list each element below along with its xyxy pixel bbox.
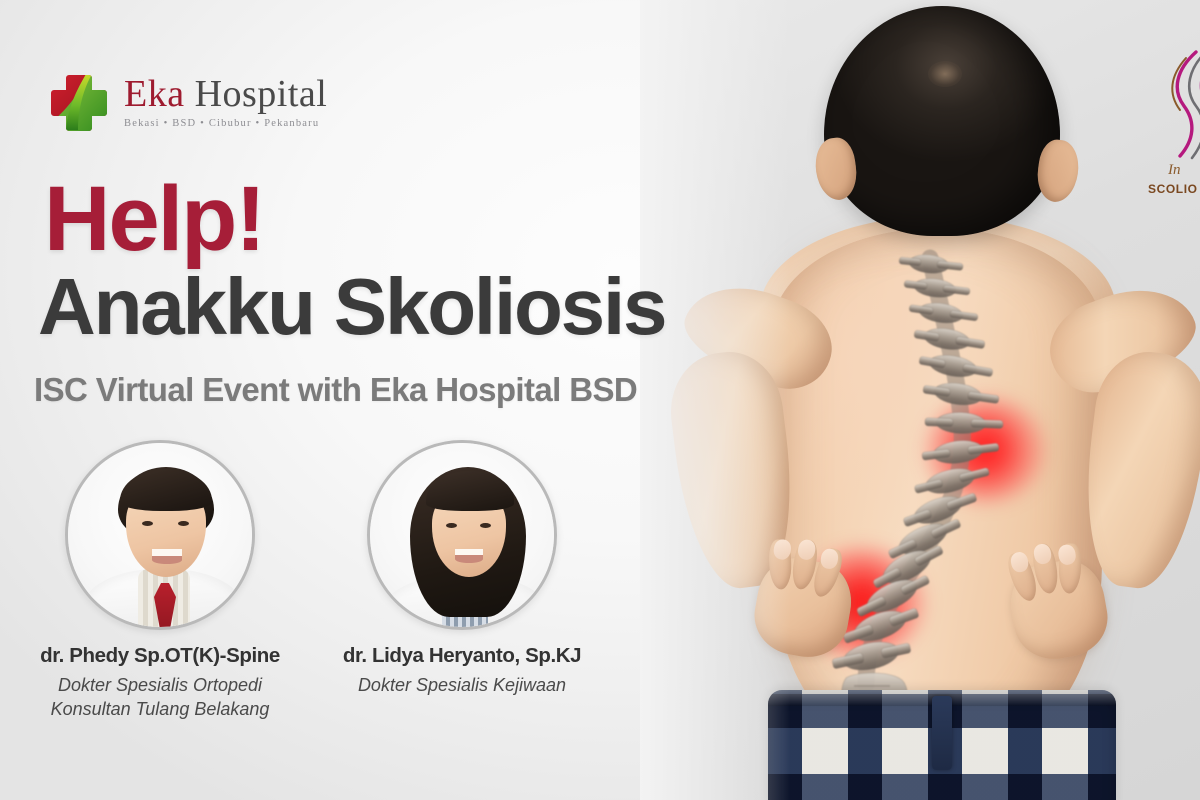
doctor-card-phedy: dr. Phedy Sp.OT(K)-Spine Dokter Spesiali… xyxy=(10,440,310,721)
headline-anakku-skoliosis: Anakku Skoliosis xyxy=(38,266,665,348)
doctor-role-line2: Konsultan Tulang Belakang xyxy=(10,697,310,721)
checkered-shorts-icon xyxy=(768,690,1116,800)
red-pain-glow-upper-icon xyxy=(926,398,1044,502)
isc-logo-text-line2: SCOLIO xyxy=(1148,182,1198,196)
shorts-fly xyxy=(932,696,952,770)
eka-hospital-logo: EkaHospital Bekasi • BSD • Cibubur • Pek… xyxy=(48,72,327,132)
eka-hospital-cross-logo-icon xyxy=(48,72,110,132)
doctor-name: dr. Lidya Heryanto, Sp.KJ xyxy=(312,644,612,668)
boy-back-torso-icon xyxy=(772,228,1102,748)
hero-photo xyxy=(640,0,1200,800)
poster-canvas: In SCOLIO xyxy=(0,0,1200,800)
doctor-role-line1: Dokter Spesialis Kejiwaan xyxy=(312,673,612,697)
eka-hospital-name-eka: Eka xyxy=(124,73,185,115)
doctor-portrait-female-icon xyxy=(367,440,557,630)
doctor-portrait-male-icon xyxy=(65,440,255,630)
subheadline-event: ISC Virtual Event with Eka Hospital BSD xyxy=(34,371,637,409)
eka-hospital-locations-tagline: Bekasi • BSD • Cibubur • Pekanbaru xyxy=(124,118,327,129)
doctor-name: dr. Phedy Sp.OT(K)-Spine xyxy=(10,644,310,668)
doctor-role: Dokter Spesialis Ortopedi Konsultan Tula… xyxy=(10,673,310,721)
eka-hospital-wordmark: EkaHospital Bekasi • BSD • Cibubur • Pek… xyxy=(124,75,327,129)
headline-help: Help! xyxy=(44,176,264,262)
eka-hospital-name: EkaHospital xyxy=(124,75,327,113)
doctor-card-lidya: dr. Lidya Heryanto, Sp.KJ Dokter Spesial… xyxy=(312,440,612,697)
isc-logo-text-line1: In xyxy=(1168,162,1181,179)
doctor-role: Dokter Spesialis Kejiwaan xyxy=(312,673,612,697)
isc-scoliosis-spine-logo-icon: In SCOLIO xyxy=(1138,44,1200,214)
eka-hospital-name-hospital: Hospital xyxy=(195,73,328,115)
doctor-role-line1: Dokter Spesialis Ortopedi xyxy=(10,673,310,697)
